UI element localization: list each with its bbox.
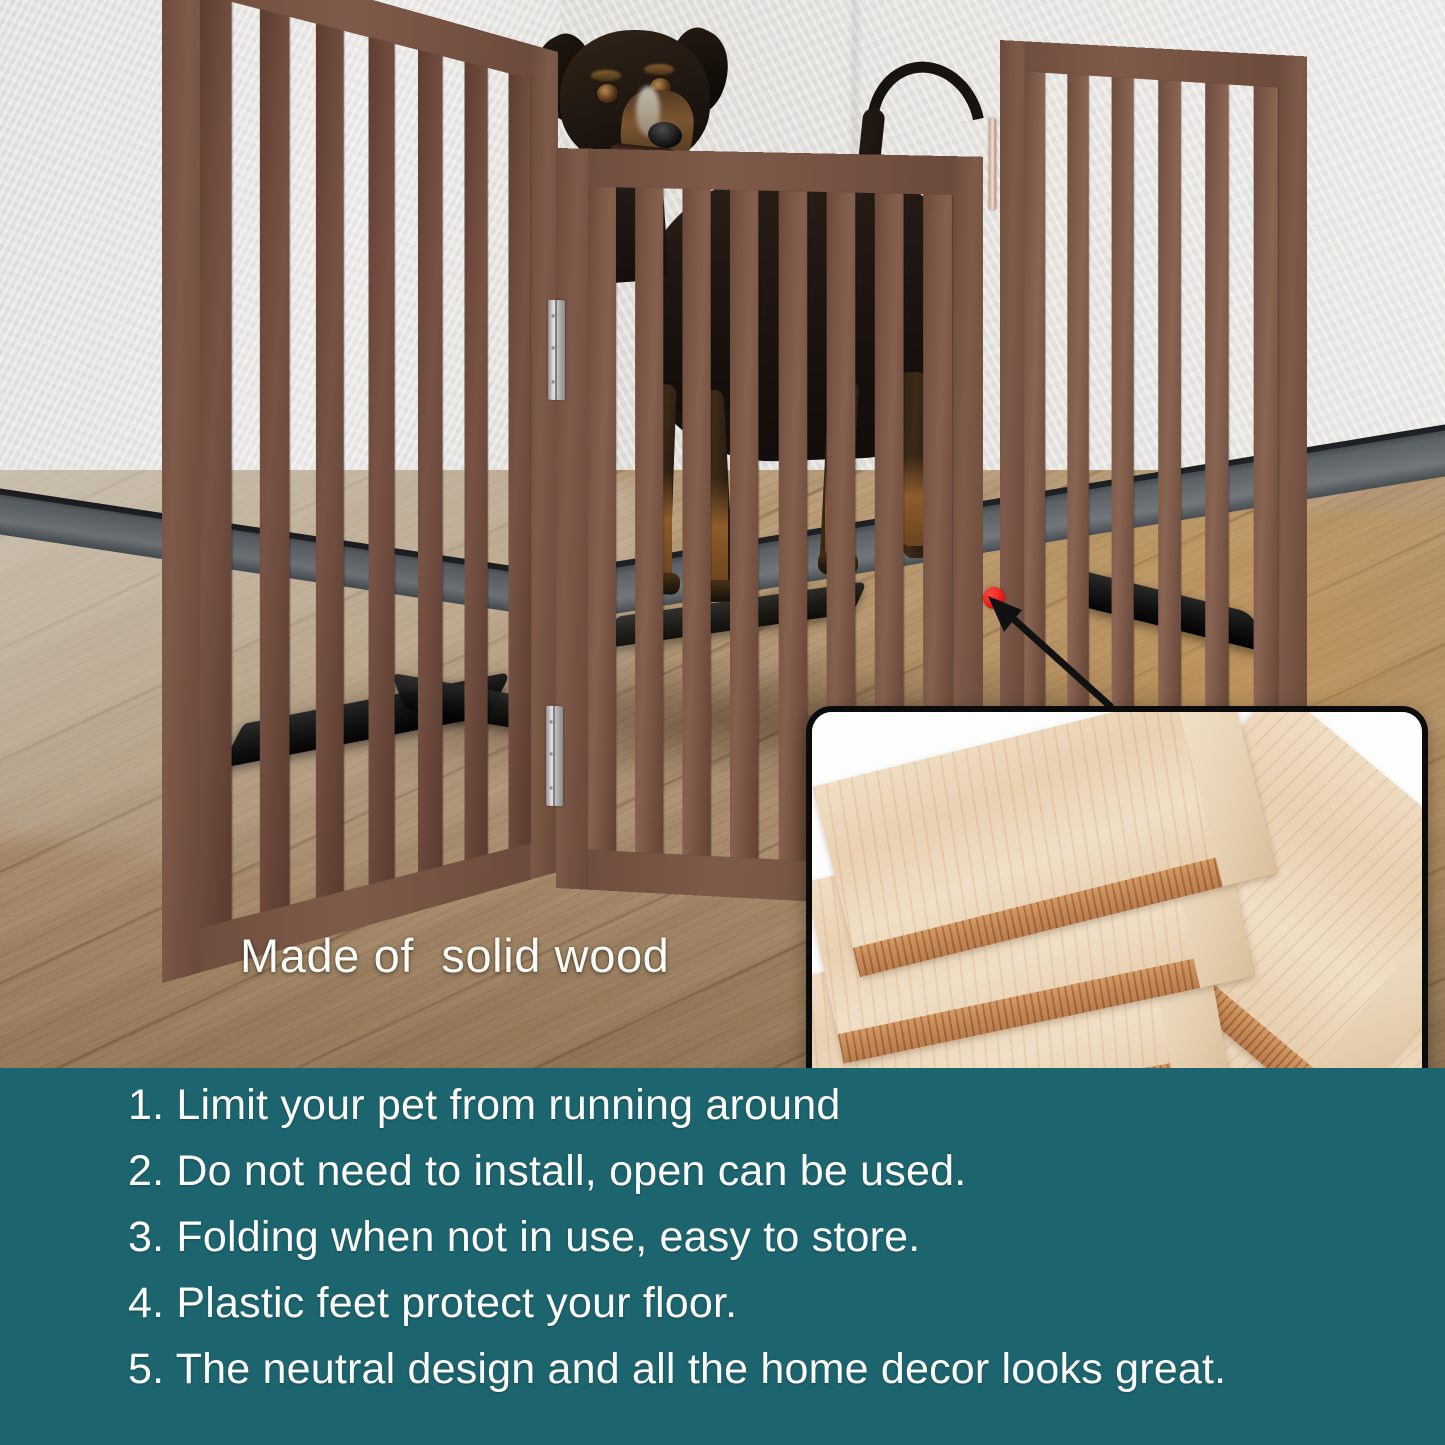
product-feature-image: Made of solid wood 1. Limit your pet fro… — [0, 0, 1445, 1445]
feature-list-band: 1. Limit your pet from running around 2.… — [0, 1068, 1445, 1445]
gate-hinge-right — [989, 117, 996, 210]
gate-slat — [200, 0, 232, 928]
gate-slat — [1205, 83, 1228, 793]
gate-slat — [1254, 86, 1278, 807]
wood-board-inset — [806, 706, 1428, 1068]
gate-hinge-upper — [548, 300, 565, 401]
gate-hinge-lower — [546, 706, 563, 807]
feature-item-5: 5. The neutral design and all the home d… — [128, 1348, 1388, 1391]
product-photo: Made of solid wood — [0, 0, 1445, 1068]
panel-left-stile — [162, 0, 200, 983]
gate-slat — [260, 9, 290, 912]
feature-item-3: 3. Folding when not in use, easy to stor… — [128, 1216, 1388, 1259]
gate-slat — [316, 24, 344, 898]
gate-slat — [1158, 80, 1181, 779]
gate-slat — [369, 37, 395, 884]
feature-item-1: 1. Limit your pet from running around — [128, 1084, 1388, 1127]
feature-item-4: 4. Plastic feet protect your floor. — [128, 1282, 1388, 1325]
gate-slat — [635, 188, 663, 854]
feature-item-2: 2. Do not need to install, open can be u… — [128, 1150, 1388, 1193]
gate-panel-left — [162, 0, 558, 983]
feature-list: 1. Limit your pet from running around 2.… — [128, 1084, 1388, 1391]
gate-slat — [508, 73, 530, 848]
callout-arrow-icon — [960, 588, 1140, 708]
gate-slat — [778, 191, 807, 861]
gate-slat — [730, 190, 758, 858]
gate-slat — [588, 187, 616, 851]
gate-slat — [683, 189, 711, 856]
solid-wood-caption: Made of solid wood — [240, 928, 669, 983]
gate-slat — [465, 62, 488, 860]
gate-slat — [418, 50, 443, 872]
panel-slats — [200, 0, 530, 928]
